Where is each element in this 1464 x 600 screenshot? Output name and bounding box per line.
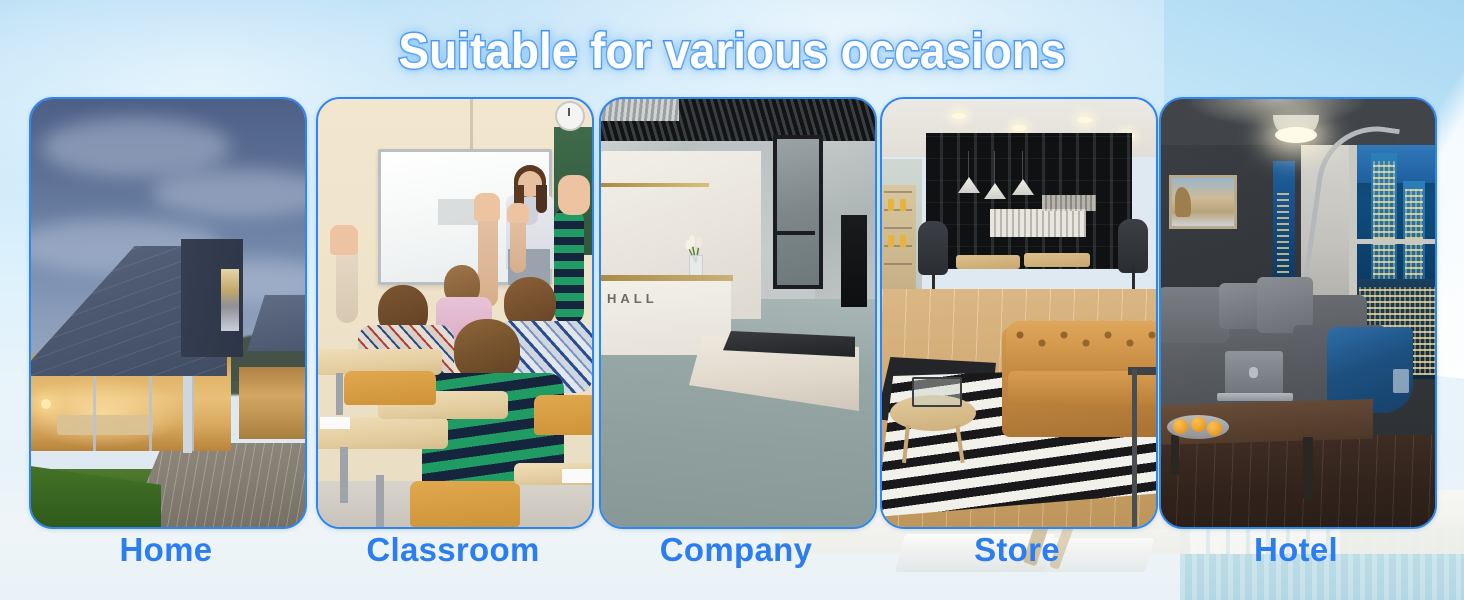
occasion-card-company[interactable]: HALL bbox=[599, 97, 877, 529]
company-hall-sign: HALL bbox=[607, 291, 658, 306]
pendant-cord bbox=[994, 151, 995, 185]
laptop-logo-icon bbox=[1249, 367, 1258, 378]
desk-leg bbox=[336, 373, 343, 415]
store-mannequin bbox=[918, 221, 948, 275]
teacher-hair bbox=[536, 185, 547, 213]
ceiling-light-icon bbox=[1012, 125, 1026, 131]
company-desk-gold-edge bbox=[601, 275, 733, 281]
occasion-card-home[interactable] bbox=[29, 97, 307, 529]
home-interior-sofa bbox=[57, 415, 153, 435]
store-mannequin bbox=[1118, 219, 1148, 273]
home-tower-window bbox=[221, 269, 239, 331]
store-product bbox=[888, 199, 894, 211]
store-product bbox=[900, 235, 906, 247]
store-product-row bbox=[1042, 195, 1096, 211]
company-elevator-door bbox=[841, 215, 867, 307]
student-hand bbox=[558, 175, 590, 215]
classroom-chair bbox=[410, 481, 520, 527]
student-hand bbox=[330, 225, 358, 255]
store-glass-display-box bbox=[912, 377, 962, 407]
student-head-front bbox=[454, 319, 520, 381]
clock-icon bbox=[555, 101, 585, 131]
company-ceiling-left bbox=[601, 99, 679, 121]
store-metal-pole bbox=[1132, 369, 1137, 527]
hotel-drinking-glass bbox=[1393, 369, 1409, 393]
ceiling-light-icon bbox=[1078, 117, 1092, 123]
classroom-chair bbox=[534, 395, 592, 435]
home-cloud bbox=[41, 117, 231, 177]
pendant-cord bbox=[968, 151, 969, 179]
paper-sheet bbox=[562, 469, 592, 483]
desk-leg bbox=[376, 475, 384, 527]
occasion-card-store[interactable] bbox=[880, 97, 1158, 529]
store-photo bbox=[882, 99, 1156, 527]
company-photo: HALL bbox=[601, 99, 875, 527]
orange-fruit bbox=[1173, 419, 1188, 434]
pendant-cord bbox=[1022, 151, 1023, 181]
student-arm bbox=[336, 245, 358, 323]
orange-fruit bbox=[1207, 421, 1222, 436]
classroom-chair bbox=[344, 371, 436, 405]
desk-leg bbox=[340, 447, 348, 503]
caption-home: Home bbox=[29, 531, 303, 569]
student-hand bbox=[474, 193, 500, 221]
caption-classroom: Classroom bbox=[316, 531, 590, 569]
paper-sheet bbox=[320, 417, 350, 429]
home-interior-lamp bbox=[41, 399, 51, 409]
company-gold-trim bbox=[601, 183, 709, 187]
sofa-tufting bbox=[1008, 325, 1156, 367]
store-product bbox=[888, 235, 894, 247]
occasion-cards: Home bbox=[0, 0, 1464, 600]
occasions-banner: Suitable for various occasions bbox=[0, 0, 1464, 600]
store-grid-shelving bbox=[926, 133, 1132, 269]
ceiling-light-icon bbox=[952, 113, 966, 119]
table-leg bbox=[1303, 437, 1313, 499]
student-arm-striped bbox=[554, 207, 584, 325]
home-photo bbox=[31, 99, 305, 527]
home-side-window bbox=[239, 367, 305, 439]
arc-lamp-bulb bbox=[1275, 127, 1317, 143]
caption-store: Store bbox=[880, 531, 1154, 569]
home-foreground-lawn bbox=[31, 449, 161, 527]
student-arm bbox=[478, 211, 498, 307]
store-product bbox=[900, 199, 906, 211]
hotel-wood-floor bbox=[1161, 435, 1435, 527]
company-glass-door bbox=[773, 135, 823, 289]
caption-hotel: Hotel bbox=[1159, 531, 1433, 569]
store-display-table bbox=[956, 255, 1020, 269]
occasion-card-hotel[interactable] bbox=[1159, 97, 1437, 529]
table-leg bbox=[1171, 435, 1179, 475]
hotel-photo bbox=[1161, 99, 1435, 527]
student-hand bbox=[507, 203, 529, 223]
occasion-card-classroom[interactable] bbox=[316, 97, 594, 529]
caption-company: Company bbox=[599, 531, 873, 569]
laptop-base bbox=[1217, 393, 1293, 401]
store-product-row bbox=[990, 209, 1086, 237]
store-display-table bbox=[1024, 253, 1090, 267]
classroom-photo bbox=[318, 99, 592, 527]
orange-fruit bbox=[1191, 417, 1206, 432]
company-glass-door-bar bbox=[773, 231, 815, 235]
hotel-window-slot-view bbox=[1277, 191, 1289, 273]
